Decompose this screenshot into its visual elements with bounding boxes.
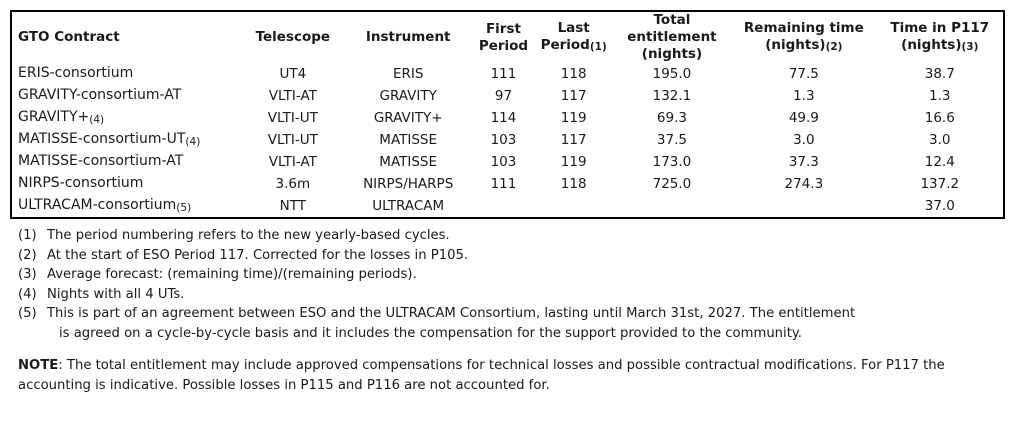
cell-remaining-time [731, 195, 876, 218]
cell-contract-text: GRAVITY+ [18, 109, 89, 125]
column-header-last-period-line2: Period [541, 37, 590, 53]
column-header-instrument: Instrument [344, 11, 472, 63]
column-header-remaining-time: Remaining time (nights)(2) [731, 11, 876, 63]
cell-remaining-time: 77.5 [731, 63, 876, 85]
cell-first-period: 97 [472, 85, 534, 107]
column-header-p117-footnote-marker: (3) [962, 41, 979, 53]
footnote-text: At the start of ESO Period 117. Correcte… [47, 246, 1005, 266]
cell-contract: MATISSE-consortium-AT [11, 151, 242, 173]
cell-telescope: UT4 [242, 63, 344, 85]
cell-telescope: VLTI-AT [242, 85, 344, 107]
footnote-item: (2) At the start of ESO Period 117. Corr… [18, 246, 1005, 266]
cell-time-in-p117: 37.0 [877, 195, 1004, 218]
cell-contract-text: ULTRACAM-consortium [18, 197, 176, 213]
gto-contract-page: GTO Contract Telescope Instrument First … [0, 0, 1024, 432]
cell-instrument: GRAVITY+ [344, 107, 472, 129]
footnote-marker: (2) [18, 246, 47, 266]
cell-time-in-p117: 137.2 [877, 173, 1004, 195]
cell-contract-footnote-marker: (4) [89, 114, 104, 126]
footnote-text: The period numbering refers to the new y… [47, 226, 1005, 246]
cell-contract: GRAVITY-consortium-AT [11, 85, 242, 107]
cell-telescope: VLTI-AT [242, 151, 344, 173]
column-header-last-period-footnote-marker: (1) [590, 41, 607, 53]
cell-first-period: 103 [472, 151, 534, 173]
cell-time-in-p117: 12.4 [877, 151, 1004, 173]
cell-time-in-p117: 3.0 [877, 129, 1004, 151]
column-header-first-period-line2: Period [479, 38, 528, 54]
cell-time-in-p117: 16.6 [877, 107, 1004, 129]
cell-total-entitlement [613, 195, 731, 218]
cell-contract: NIRPS-consortium [11, 173, 242, 195]
column-header-total-entitlement: Total entitlement (nights) [613, 11, 731, 63]
table-row: GRAVITY-consortium-AT VLTI-AT GRAVITY 97… [11, 85, 1004, 107]
cell-first-period: 114 [472, 107, 534, 129]
cell-remaining-time: 1.3 [731, 85, 876, 107]
cell-total-entitlement: 173.0 [613, 151, 731, 173]
column-header-contract-label: GTO Contract [18, 29, 120, 45]
cell-remaining-time: 3.0 [731, 129, 876, 151]
cell-remaining-time: 37.3 [731, 151, 876, 173]
cell-total-entitlement: 132.1 [613, 85, 731, 107]
column-header-last-period: Last Period(1) [535, 11, 613, 63]
column-header-first-period: First Period [472, 11, 534, 63]
cell-remaining-time: 274.3 [731, 173, 876, 195]
cell-instrument: NIRPS/HARPS [344, 173, 472, 195]
footnote-text-line2: is agreed on a cycle-by-cycle basis and … [47, 324, 1005, 344]
cell-contract-text: NIRPS-consortium [18, 175, 143, 191]
gto-contract-table: GTO Contract Telescope Instrument First … [10, 10, 1005, 219]
column-header-p117-line2: (nights) [901, 37, 961, 53]
cell-telescope: 3.6m [242, 173, 344, 195]
column-header-instrument-label: Instrument [366, 29, 451, 45]
column-header-telescope-label: Telescope [256, 29, 331, 45]
cell-instrument: ULTRACAM [344, 195, 472, 218]
note-label: NOTE [18, 358, 58, 373]
cell-total-entitlement: 195.0 [613, 63, 731, 85]
table-header: GTO Contract Telescope Instrument First … [11, 11, 1004, 63]
column-header-p117-line1: Time in P117 [890, 20, 989, 36]
cell-contract: MATISSE-consortium-UT(4) [11, 129, 242, 151]
footnote-item: (1) The period numbering refers to the n… [18, 226, 1005, 246]
cell-contract-text: MATISSE-consortium-AT [18, 153, 183, 169]
footnote-item: (4) Nights with all 4 UTs. [18, 285, 1005, 305]
cell-contract-footnote-marker: (5) [176, 202, 191, 214]
column-header-time-in-p117: Time in P117 (nights)(3) [877, 11, 1004, 63]
column-header-remaining-line2: (nights) [765, 37, 825, 53]
footnote-marker: (4) [18, 285, 47, 305]
cell-contract-footnote-marker: (4) [185, 136, 200, 148]
cell-contract: GRAVITY+(4) [11, 107, 242, 129]
table-row: GRAVITY+(4) VLTI-UT GRAVITY+ 114 119 69.… [11, 107, 1004, 129]
column-header-telescope: Telescope [242, 11, 344, 63]
cell-last-period: 117 [535, 85, 613, 107]
footnote-text: Average forecast: (remaining time)/(rema… [47, 265, 1005, 285]
cell-instrument: MATISSE [344, 151, 472, 173]
cell-first-period: 103 [472, 129, 534, 151]
footnote-marker: (3) [18, 265, 47, 285]
table-header-row: GTO Contract Telescope Instrument First … [11, 11, 1004, 63]
footnote-text: This is part of an agreement between ESO… [47, 304, 1005, 343]
column-header-total-line2: entitlement [627, 29, 716, 45]
note-text: The total entitlement may include approv… [18, 358, 945, 393]
column-header-remaining-line1: Remaining time [744, 20, 864, 36]
cell-last-period: 119 [535, 107, 613, 129]
footnote-marker: (5) [18, 304, 47, 324]
note-separator: : [58, 358, 67, 373]
column-header-contract: GTO Contract [11, 11, 242, 63]
column-header-last-period-line1: Last [558, 20, 590, 36]
cell-instrument: GRAVITY [344, 85, 472, 107]
footnote-item: (5) This is part of an agreement between… [18, 304, 1005, 343]
footnote-marker: (1) [18, 226, 47, 246]
table-row: NIRPS-consortium 3.6m NIRPS/HARPS 111 11… [11, 173, 1004, 195]
cell-first-period: 111 [472, 63, 534, 85]
cell-remaining-time: 49.9 [731, 107, 876, 129]
cell-last-period [535, 195, 613, 218]
cell-time-in-p117: 1.3 [877, 85, 1004, 107]
cell-contract-text: MATISSE-consortium-UT [18, 131, 185, 147]
cell-total-entitlement: 37.5 [613, 129, 731, 151]
cell-instrument: ERIS [344, 63, 472, 85]
table-row: ULTRACAM-consortium(5) NTT ULTRACAM 37.0 [11, 195, 1004, 218]
cell-telescope: NTT [242, 195, 344, 218]
cell-telescope: VLTI-UT [242, 107, 344, 129]
footnotes-list: (1) The period numbering refers to the n… [10, 226, 1005, 343]
cell-contract: ERIS-consortium [11, 63, 242, 85]
table-body: ERIS-consortium UT4 ERIS 111 118 195.0 7… [11, 63, 1004, 218]
cell-last-period: 118 [535, 173, 613, 195]
column-header-first-period-line1: First [486, 21, 521, 37]
cell-total-entitlement: 725.0 [613, 173, 731, 195]
table-row: ERIS-consortium UT4 ERIS 111 118 195.0 7… [11, 63, 1004, 85]
column-header-total-line1: Total [654, 12, 691, 28]
column-header-remaining-footnote-marker: (2) [826, 41, 843, 53]
footnote-item: (3) Average forecast: (remaining time)/(… [18, 265, 1005, 285]
footnote-text-line1: This is part of an agreement between ESO… [47, 306, 855, 321]
column-header-total-line3: (nights) [642, 46, 702, 62]
note-block: NOTE: The total entitlement may include … [10, 356, 1005, 395]
table-row: MATISSE-consortium-AT VLTI-AT MATISSE 10… [11, 151, 1004, 173]
cell-first-period: 111 [472, 173, 534, 195]
cell-instrument: MATISSE [344, 129, 472, 151]
footnote-text: Nights with all 4 UTs. [47, 285, 1005, 305]
cell-contract-text: ERIS-consortium [18, 65, 133, 81]
cell-total-entitlement: 69.3 [613, 107, 731, 129]
cell-contract: ULTRACAM-consortium(5) [11, 195, 242, 218]
cell-time-in-p117: 38.7 [877, 63, 1004, 85]
cell-last-period: 119 [535, 151, 613, 173]
cell-contract-text: GRAVITY-consortium-AT [18, 87, 181, 103]
table-row: MATISSE-consortium-UT(4) VLTI-UT MATISSE… [11, 129, 1004, 151]
cell-last-period: 118 [535, 63, 613, 85]
cell-last-period: 117 [535, 129, 613, 151]
cell-telescope: VLTI-UT [242, 129, 344, 151]
cell-first-period [472, 195, 534, 218]
